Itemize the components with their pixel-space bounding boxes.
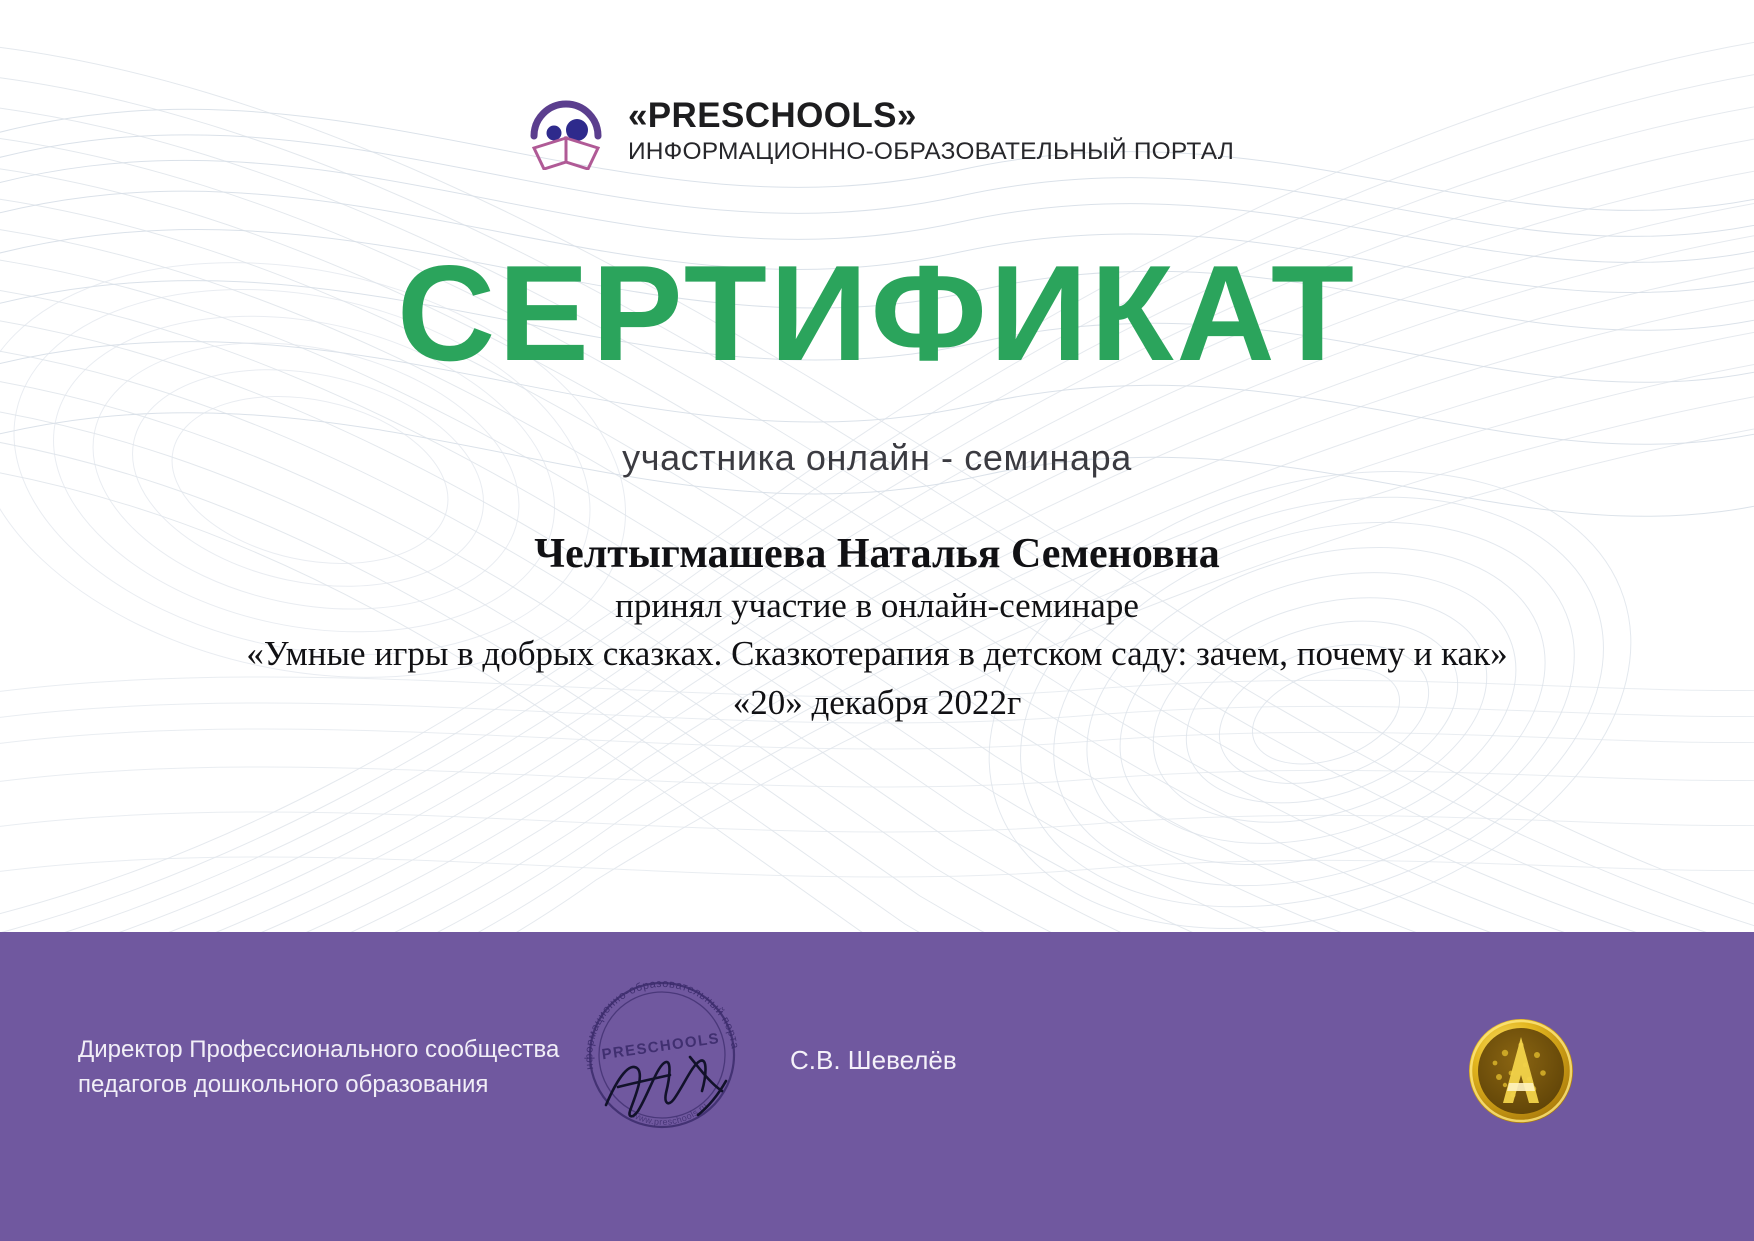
certificate-subheadline: участника онлайн - семинара bbox=[0, 437, 1754, 479]
recipient-name: Челтыгмашева Наталья Семеновна bbox=[0, 530, 1754, 580]
participation-line: принял участие в онлайн-семинаре bbox=[0, 584, 1754, 629]
handwritten-signature bbox=[606, 1057, 726, 1116]
round-seal-stamp: информационно-образовательный портал PRE… bbox=[572, 965, 752, 1145]
certificate-page: «PRESCHOOLS» ИНФОРМАЦИОННО-ОБРАЗОВАТЕЛЬН… bbox=[0, 0, 1754, 1241]
svg-text:PRESCHOOLS: PRESCHOOLS bbox=[601, 1030, 721, 1063]
event-title: «Умные игры в добрых сказках. Сказкотера… bbox=[0, 632, 1754, 677]
signatory-role-line-1: Директор Профессионального сообщества bbox=[78, 1033, 559, 1068]
certificate-headline: СЕРТИФИКАТ bbox=[0, 245, 1754, 381]
logo-tagline: ИНФОРМАЦИОННО-ОБРАЗОВАТЕЛЬНЫЙ ПОРТАЛ bbox=[628, 139, 1234, 165]
owl-reading-book-icon bbox=[520, 92, 612, 170]
signatory-role-line-2: педагогов дошкольного образования bbox=[78, 1068, 559, 1103]
signatory-name: С.В. Шевелёв bbox=[790, 1045, 957, 1076]
gold-medal-icon bbox=[1465, 1015, 1577, 1127]
certificate-body: Челтыгмашева Наталья Семеновна принял уч… bbox=[0, 530, 1754, 726]
svg-text:информационно-образовательный: информационно-образовательный портал bbox=[572, 965, 741, 1073]
event-date: «20» декабря 2022г bbox=[0, 681, 1754, 726]
logo-name: «PRESCHOOLS» bbox=[628, 97, 1234, 134]
signatory-role: Директор Профессионального сообщества пе… bbox=[78, 1033, 559, 1103]
portal-logo: «PRESCHOOLS» ИНФОРМАЦИОННО-ОБРАЗОВАТЕЛЬН… bbox=[0, 92, 1754, 170]
